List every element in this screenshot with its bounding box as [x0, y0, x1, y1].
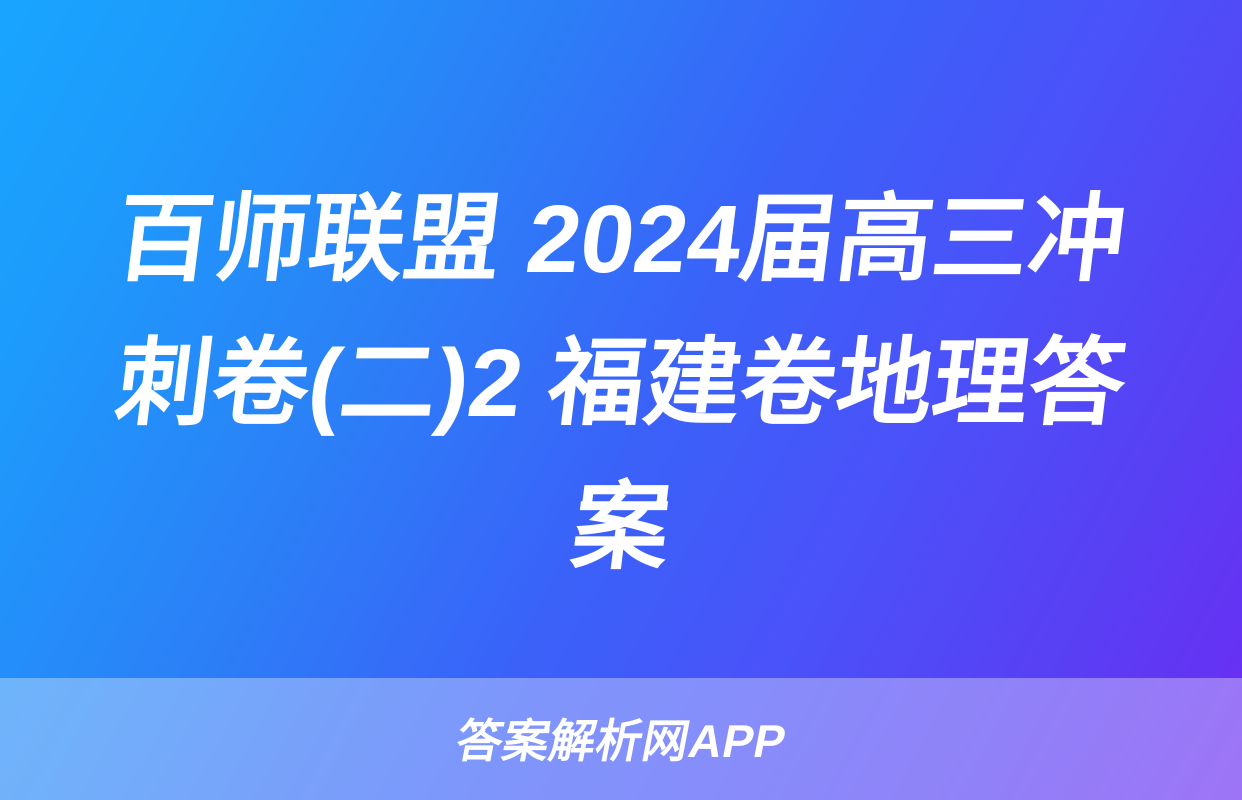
title-line-3: 案 [31, 456, 1211, 600]
page-title: 百师联盟 2024届高三冲 刺卷(二)2 福建卷地理答 案 [0, 168, 1242, 600]
title-line-2: 刺卷(二)2 福建卷地理答 [31, 312, 1211, 456]
watermark-text: 答案解析网APP [452, 718, 790, 764]
promo-card: 百师联盟 2024届高三冲 刺卷(二)2 福建卷地理答 案 答案解析网APP [0, 0, 1242, 800]
title-line-1: 百师联盟 2024届高三冲 [31, 168, 1211, 312]
footer-band: 答案解析网APP [0, 678, 1242, 800]
